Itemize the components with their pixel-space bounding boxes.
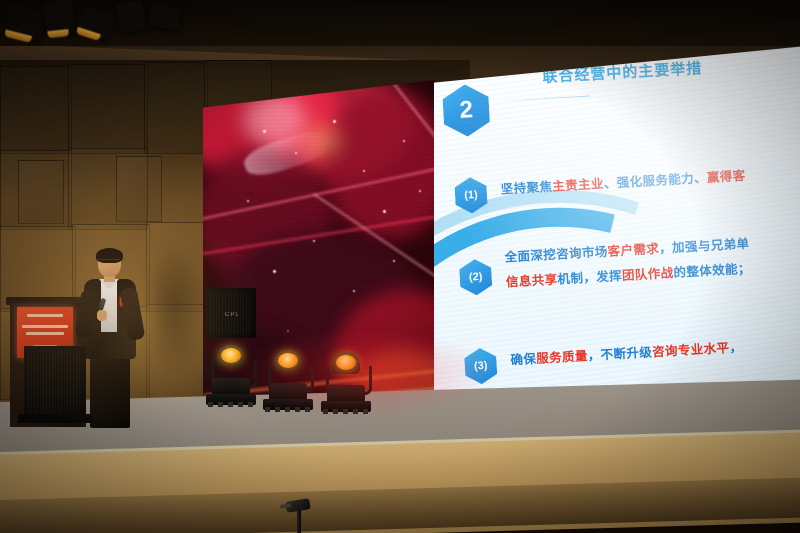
moving-head-light	[205, 345, 257, 407]
light-lens	[221, 348, 241, 363]
presenter-hand	[97, 310, 107, 321]
presenter-legs	[90, 354, 130, 428]
foreground-mic-stand	[278, 492, 322, 533]
moving-head-light	[320, 352, 372, 414]
eyeglasses-icon	[99, 259, 120, 265]
ceiling-truss-light	[42, 0, 75, 35]
light-feet	[323, 409, 369, 414]
pa-speaker-left-base	[18, 414, 92, 423]
light-lens	[336, 355, 356, 370]
moving-head-light	[262, 350, 314, 412]
speaker-brand-label: CPL	[225, 312, 240, 318]
pa-speaker-center: CPL	[206, 288, 256, 338]
conference-stage-photo: 2 联合经营中的主要举措 (1) 坚持聚焦主责主业、强化服务能力、赢得客 (2)…	[0, 0, 800, 533]
speaker-grille	[28, 350, 82, 414]
presenter-shadow	[150, 243, 208, 373]
light-feet	[208, 402, 254, 407]
light-lens	[278, 353, 298, 368]
pa-speaker-left	[24, 346, 86, 418]
ceiling-truss-light	[116, 0, 147, 34]
light-feet	[265, 407, 311, 412]
ceiling-truss-light	[149, 4, 182, 30]
